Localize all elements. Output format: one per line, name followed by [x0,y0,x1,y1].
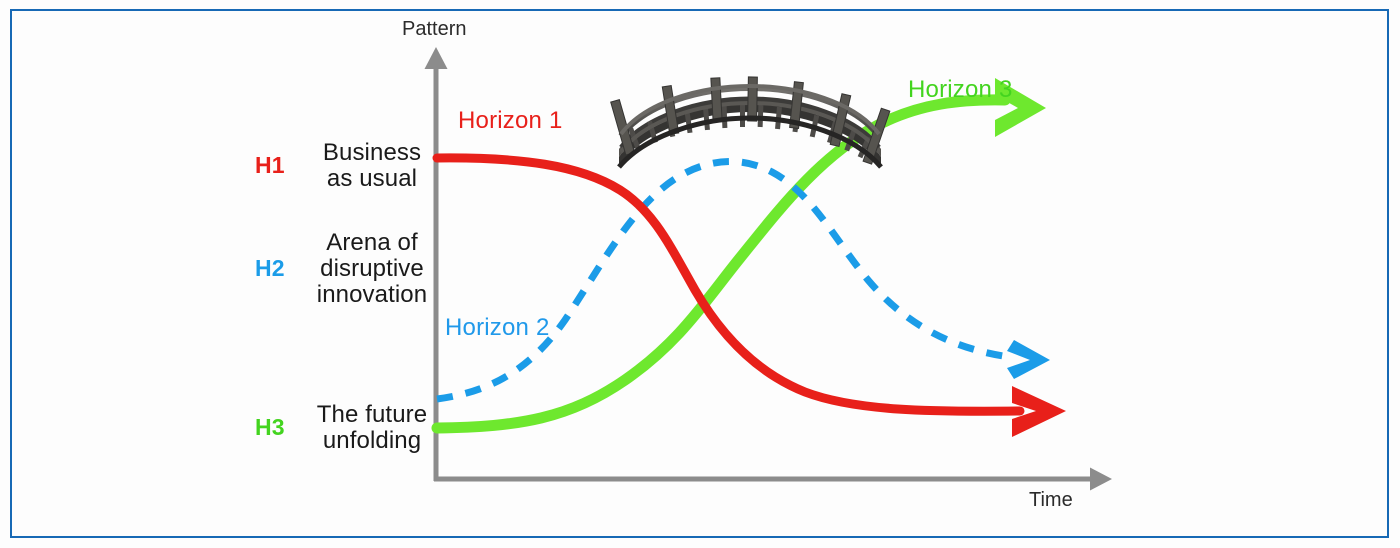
legend-code-h2: H2 [255,255,297,282]
series-horizon-1 [437,158,1066,437]
figure-canvas: H1 Business as usual H2 Arena of disrupt… [0,0,1400,548]
legend-text-h2-line1: Arena of [297,230,447,256]
curve-label-horizon-2: Horizon 2 [445,314,550,342]
legend-text-h3-line1: The future [297,402,447,428]
x-axis-label: Time [1029,489,1073,512]
legend-text-h3-line2: unfolding [297,428,447,454]
legend-text-h2-line3: innovation [297,282,447,308]
curve-label-horizon-1: Horizon 1 [458,107,563,135]
legend-row-h2: H2 Arena of disruptive innovation [255,230,447,308]
curve-label-horizon-3: Horizon 3 [908,76,1013,104]
legend-text-h1-line1: Business [297,140,447,166]
legend-row-h1: H1 Business as usual [255,140,447,192]
legend-text-h2: Arena of disruptive innovation [297,230,447,308]
x-axis [434,468,1112,491]
legend-text-h1-line2: as usual [297,166,447,192]
legend-code-h1: H1 [255,152,297,179]
legend-text-h3: The future unfolding [297,402,447,454]
legend-row-h3: H3 The future unfolding [255,402,447,454]
y-axis-label: Pattern [402,18,466,41]
series-horizon-2 [437,161,1050,399]
legend-text-h2-line2: disruptive [297,256,447,282]
bridge-image [611,77,890,167]
legend-code-h3: H3 [255,414,297,441]
three-horizons-chart [0,0,1400,548]
legend-text-h1: Business as usual [297,140,447,192]
